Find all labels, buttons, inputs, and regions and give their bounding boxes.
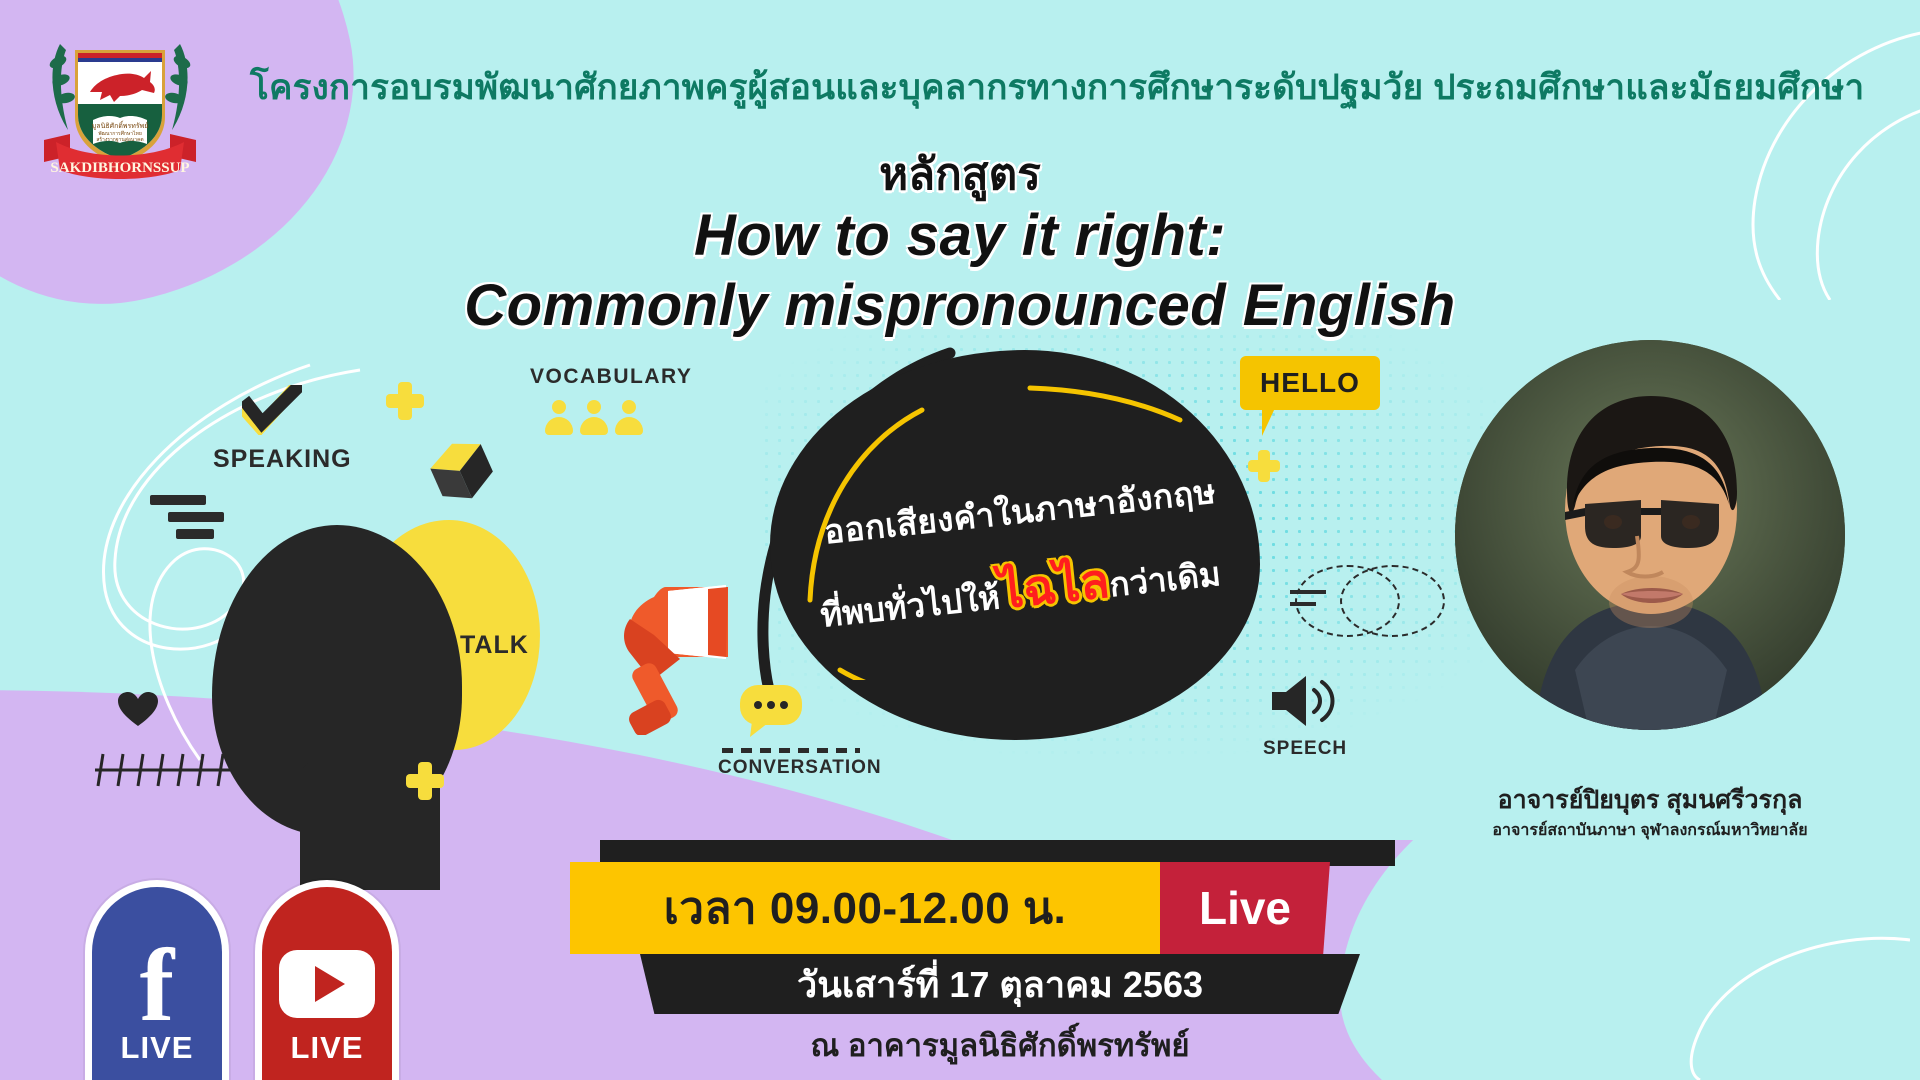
course-title-block: หลักสูตร How to say it right: Commonly m… [0, 150, 1920, 342]
plus-decoration-1 [398, 382, 412, 420]
label-talk: TALK [460, 631, 529, 660]
speaker-portrait [1455, 340, 1845, 730]
plus-decoration-3 [1258, 450, 1270, 482]
course-title-line2: Commonly mispronounced English [0, 271, 1920, 342]
people-group-icon [545, 400, 643, 434]
dashed-circle-decoration-2 [1340, 565, 1445, 637]
facebook-live-label: LIVE [121, 1030, 194, 1066]
hello-badge: HELLO [1240, 356, 1380, 410]
schedule-time-bar: เวลา 09.00-12.00 น. [570, 862, 1160, 954]
schedule-time-text: เวลา 09.00-12.00 น. [664, 873, 1067, 943]
live-badge-text: Live [1199, 881, 1291, 935]
hatch-lines-decoration [95, 740, 240, 792]
speaker-affiliation: อาจารย์สถาบันภาษา จุฬาลงกรณ์มหาวิทยาลัย [1420, 818, 1880, 843]
checkmark-icon [242, 385, 302, 435]
conversation-dots-bubble-icon [740, 685, 802, 737]
swirl-decoration-bottomright [1580, 880, 1910, 1080]
label-conversation: CONVERSATION [718, 757, 882, 779]
schedule-venue-text: ณ อาคารมูลนิธิศักดิ์พรทรัพย์ [600, 1020, 1400, 1070]
schedule-date-bar: วันเสาร์ที่ 17 ตุลาคม 2563 [640, 954, 1360, 1014]
youtube-icon [279, 950, 375, 1018]
plus-decoration-2 [418, 762, 432, 800]
live-badge: Live [1160, 862, 1330, 954]
text-lines-icon [150, 495, 224, 546]
course-title-line1: How to say it right: [0, 201, 1920, 272]
youtube-live-button[interactable]: LIVE [255, 880, 399, 1080]
bubble-text-highlight: ไฉไล [997, 555, 1112, 619]
header-title: โครงการอบรมพัฒนาศักยภาพครูผู้สอนและบุคลา… [250, 60, 1900, 115]
bubble-text-block: ออกเสียงคำในภาษาอังกฤษ ที่พบทั่วไปให้ไฉไ… [790, 485, 1250, 628]
label-speech: SPEECH [1263, 738, 1347, 760]
schedule-date-text: วันเสาร์ที่ 17 ตุลาคม 2563 [797, 956, 1203, 1013]
small-lines-decoration [1290, 590, 1326, 614]
facebook-live-button[interactable]: f LIVE [85, 880, 229, 1080]
bubble-text-line2-post: กว่าเดิม [1108, 555, 1223, 603]
label-vocabulary: VOCABULARY [530, 365, 692, 389]
speaker-name: อาจารย์ปิยบุตร สุมนศรีวรกุล [1420, 780, 1880, 820]
svg-text:สร้างรากฐานสู่อนาคต: สร้างรากฐานสู่อนาคต [96, 136, 143, 143]
speaker-sound-icon [1270, 672, 1336, 730]
facebook-icon: f [140, 945, 175, 1026]
youtube-live-label: LIVE [291, 1030, 364, 1066]
megaphone-icon [608, 585, 738, 735]
svg-text:พัฒนาการศึกษาไทย: พัฒนาการศึกษาไทย [98, 130, 142, 137]
label-speaking: SPEAKING [213, 445, 352, 474]
conversation-dashed-line [722, 748, 860, 753]
hello-badge-tail [1262, 408, 1275, 436]
bubble-text-line2-pre: ที่พบทั่วไปให้ [819, 578, 1002, 634]
heart-icon [118, 692, 158, 728]
course-label-thai: หลักสูตร [0, 150, 1920, 201]
poster-canvas: มูลนิธิศักดิ์พรทรัพย์ พัฒนาการศึกษาไทย ส… [0, 0, 1920, 1080]
